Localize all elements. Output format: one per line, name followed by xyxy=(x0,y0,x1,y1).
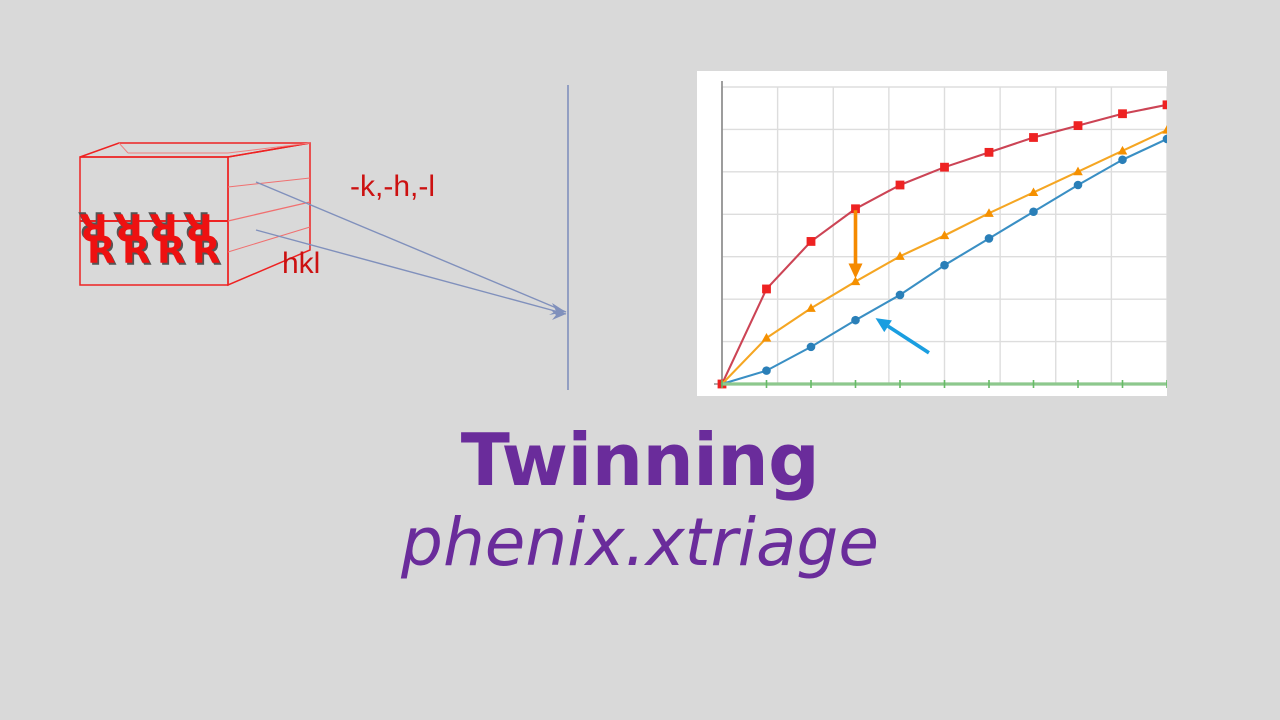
label-negative-khl: -k,-h,-l xyxy=(350,172,435,202)
label-hkl: hkl xyxy=(282,249,320,279)
svg-text:R: R xyxy=(192,229,221,272)
cumulative-intensity-chart xyxy=(697,71,1167,396)
title-block: Twinning phenix.xtriage xyxy=(0,424,1280,576)
slide-canvas: R R R R R R R R R xyxy=(0,0,1280,720)
twin-domain-crystal-diagram: R R R R R R R R R xyxy=(0,0,660,420)
svg-text:R: R xyxy=(87,229,116,272)
page-subtitle: phenix.xtriage xyxy=(0,510,1280,576)
svg-text:R: R xyxy=(157,229,186,272)
page-title: Twinning xyxy=(0,424,1280,496)
svg-text:R: R xyxy=(122,229,151,272)
